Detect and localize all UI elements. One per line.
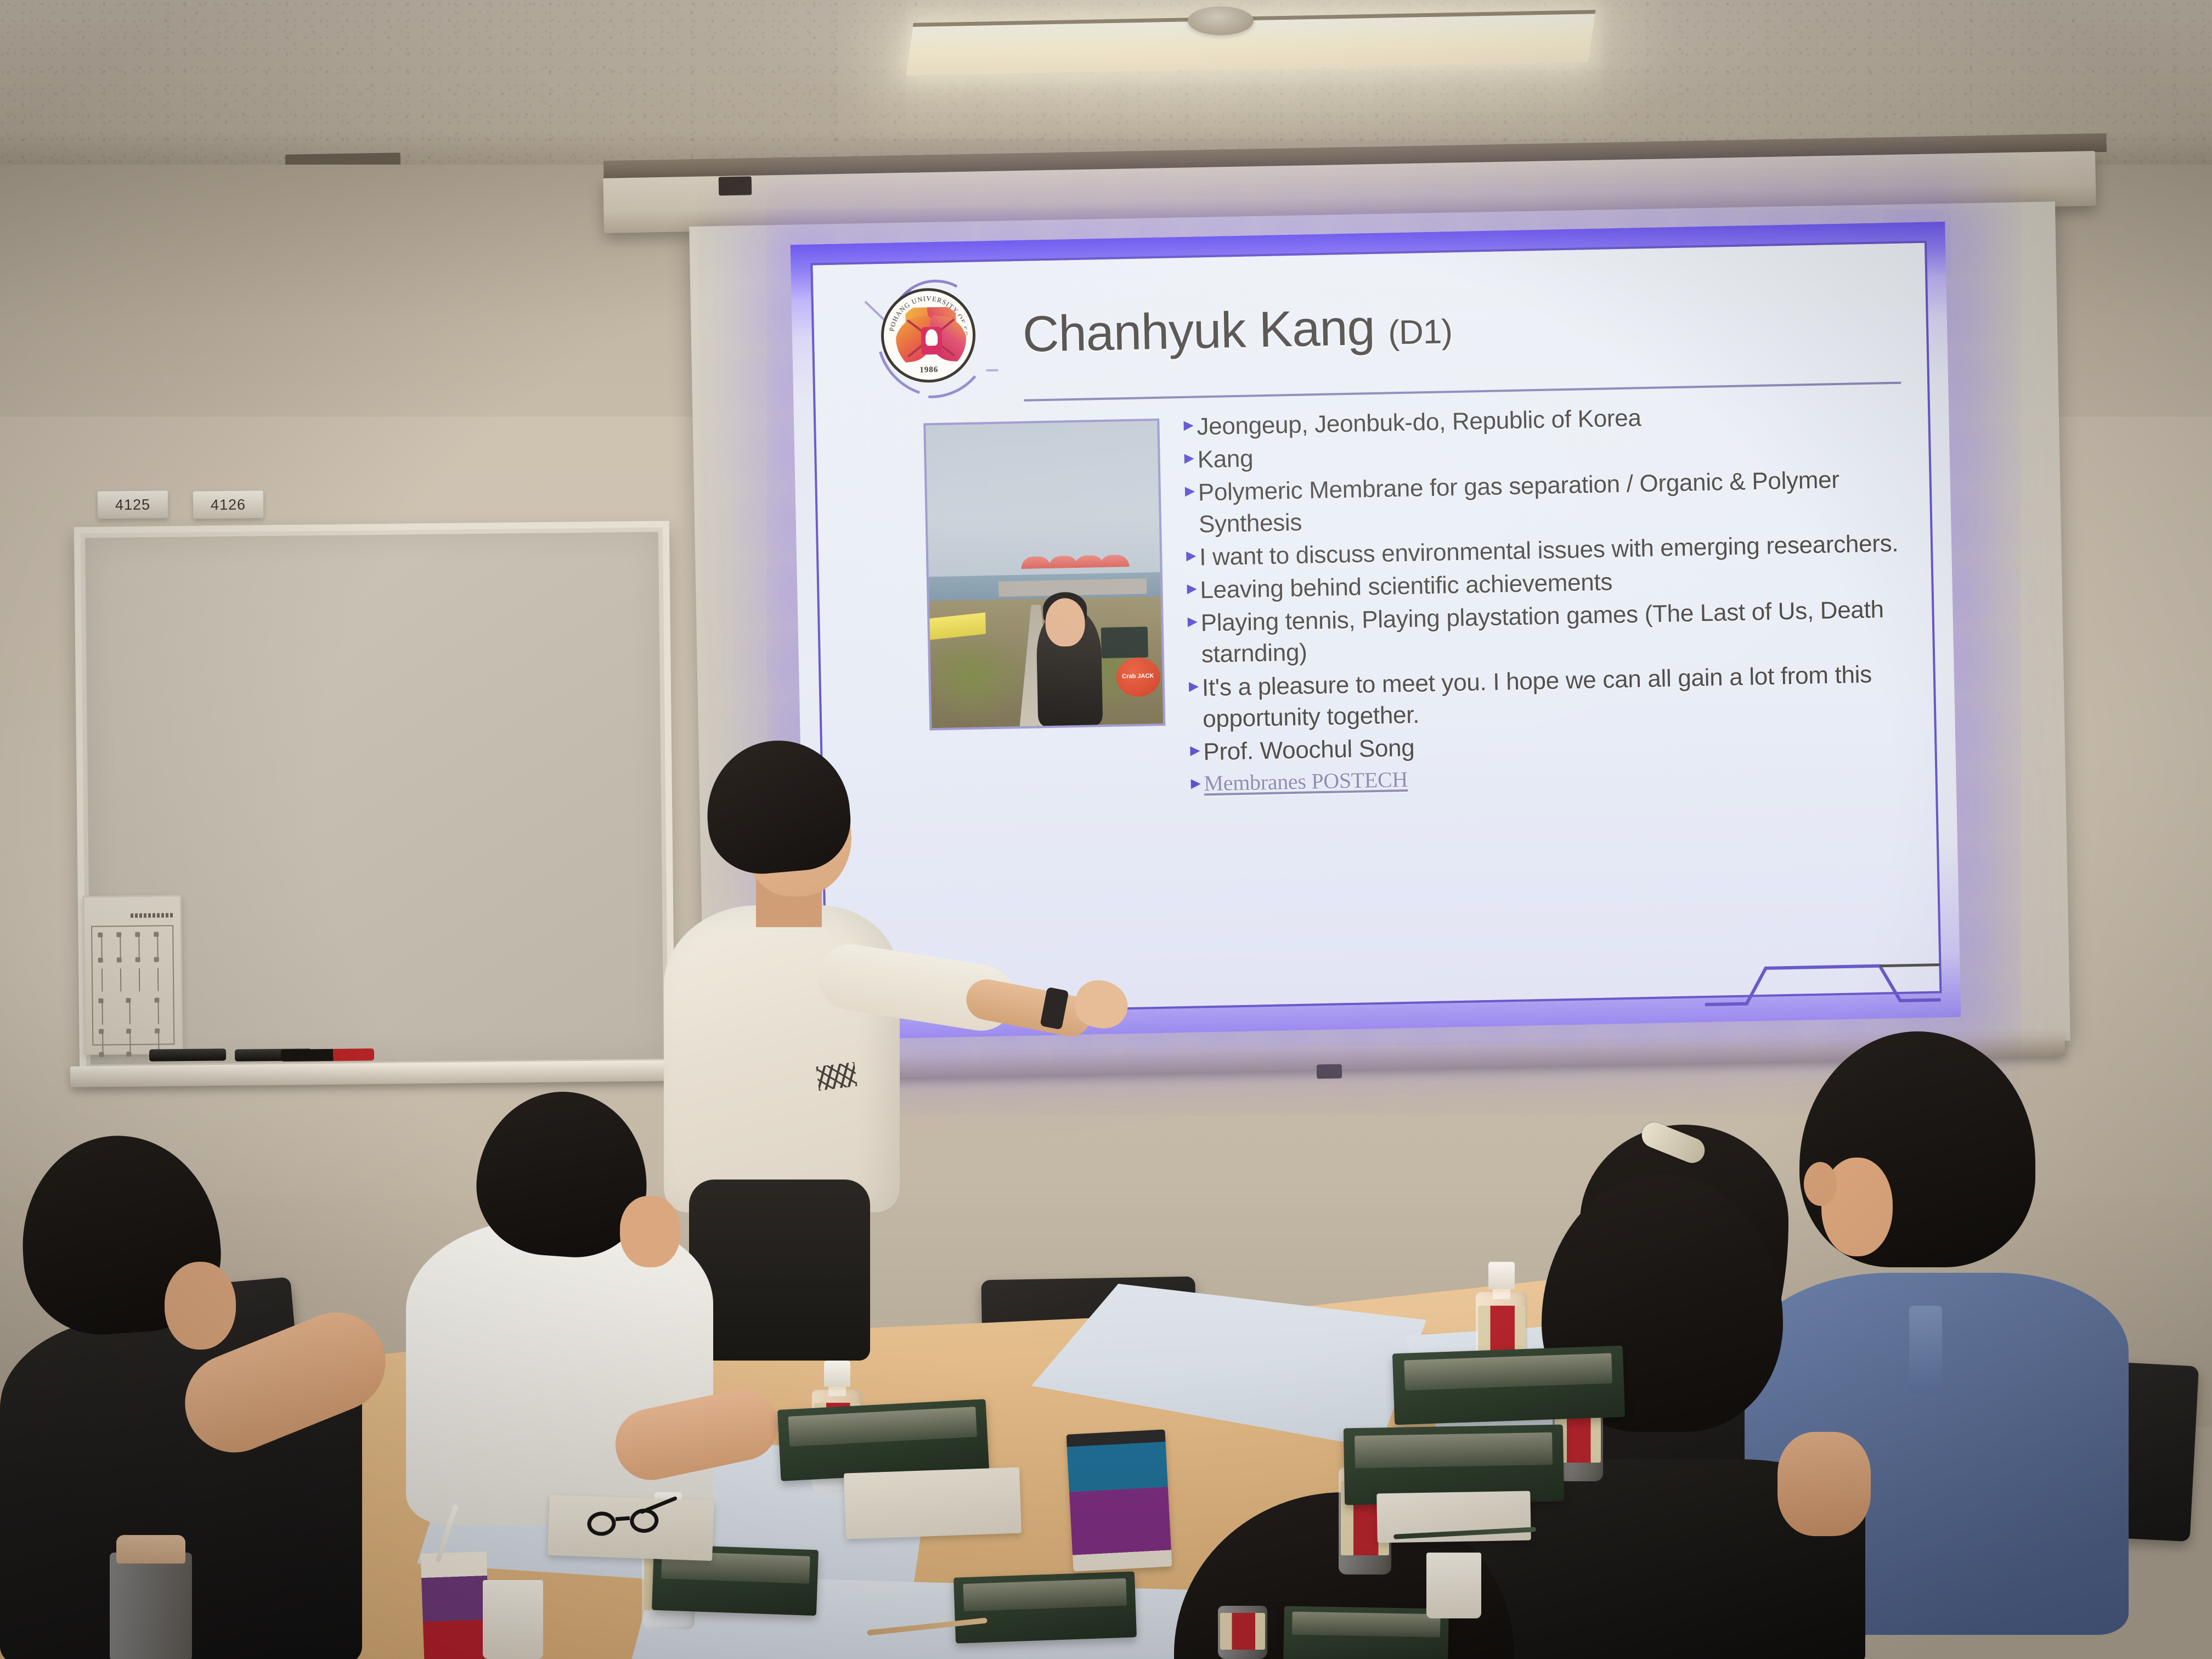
slide-title-name: Chanhyuk Kang [1022,300,1375,363]
whiteboard-tab-4126: 4126 [193,490,264,518]
bento-box[interactable] [1283,1606,1449,1659]
polo-placket [1909,1306,1942,1393]
bullet-marker-icon: ◄ [1183,672,1202,698]
bottle-cap [824,1361,850,1387]
water-tumbler[interactable] [110,1553,192,1659]
bullet-marker-icon: ◄ [1184,736,1204,762]
seal-flame-icon [926,329,938,346]
black-marker[interactable] [149,1048,226,1061]
bento-box[interactable] [953,1571,1137,1643]
paper-cup[interactable] [1426,1553,1481,1618]
bullet-marker-icon: ◄ [1179,477,1198,503]
presentation-slide: POHANG UNIVERSITY OF SCIENCE AND TECHNOL… [791,222,1961,1040]
glasses-lens-left [586,1511,617,1537]
bullet-marker-icon: ◄ [1185,769,1204,795]
slide-title-degree: (D1) [1388,313,1453,352]
slide-title-row: Chanhyuk Kang (D1) [1022,289,1888,388]
attendee-face [165,1262,236,1350]
seal-disc: POHANG UNIVERSITY OF SCIENCE AND TECHNOL… [880,287,976,383]
seminar-room-photo: POHANG UNIVERSITY OF SCIENCE AND TECHNOL… [0,0,2212,1659]
whiteboard-tab-4125: 4125 [98,490,168,518]
bento-box[interactable] [1392,1346,1625,1425]
bullet-text: Polymeric Membrane for gas separation / … [1198,462,1929,540]
attendee-shirt [406,1218,713,1525]
paper-cup[interactable] [483,1580,543,1659]
red-marker[interactable] [281,1048,374,1062]
smoke-detector-icon [1188,7,1254,35]
tumbler-lid [116,1535,185,1564]
snack-package[interactable] [1066,1429,1172,1571]
paper-tray[interactable] [844,1467,1022,1539]
attendee-front-left-black-shirt [0,1136,384,1659]
membranes-postech-link[interactable]: Membranes POSTECH [1204,765,1408,798]
bullet-marker-icon: ◄ [1181,541,1200,567]
slide-bullet-list: ◄ Jeongeup, Jeonbuk-do, Republic of Kore… [1178,397,1934,800]
bullet-text: Kang [1197,443,1254,476]
bottle-cap [1488,1262,1515,1289]
bullet-text: Leaving behind scientific achievements [1200,566,1613,606]
postech-seal-logo: POHANG UNIVERSITY OF SCIENCE AND TECHNOL… [860,262,1000,402]
presenter-photo: Crab JACK [923,419,1165,731]
photo-person-face [1045,598,1085,647]
bottle-label [1220,1613,1266,1650]
photo-grass-left [934,629,1029,722]
juice-carton[interactable] [421,1551,490,1659]
bullet-text: Playing tennis, Playing playstation game… [1200,593,1932,670]
photo-direction-sign [1101,627,1148,658]
bullet-marker-icon: ◄ [1182,608,1201,634]
slide-corner-decoration [1704,952,1941,1011]
screen-pull-knob[interactable] [1317,1064,1342,1079]
tshirt-logo-icon [816,1062,857,1091]
glasses-bridge [616,1516,630,1521]
poster-seating-grid [91,925,174,1046]
bullet-marker-icon: ◄ [1178,444,1198,470]
poster-caption-text [131,913,173,918]
attendee-hand [1778,1432,1871,1536]
bullet-marker-icon: ◄ [1181,574,1200,600]
presenter-hair [701,735,855,878]
screen-bracket [719,176,752,195]
attendee-face [620,1196,680,1267]
bullet-text: Prof. Woochul Song [1203,732,1415,768]
bullet-marker-icon: ◄ [1178,411,1197,437]
seating-chart-poster [82,895,183,1055]
eyeglasses[interactable] [586,1502,670,1537]
seal-year: 1986 [884,365,973,376]
tea-bottle[interactable] [1218,1591,1267,1659]
bullet-text: It's a pleasure to meet you. I hope we c… [1201,657,1933,735]
